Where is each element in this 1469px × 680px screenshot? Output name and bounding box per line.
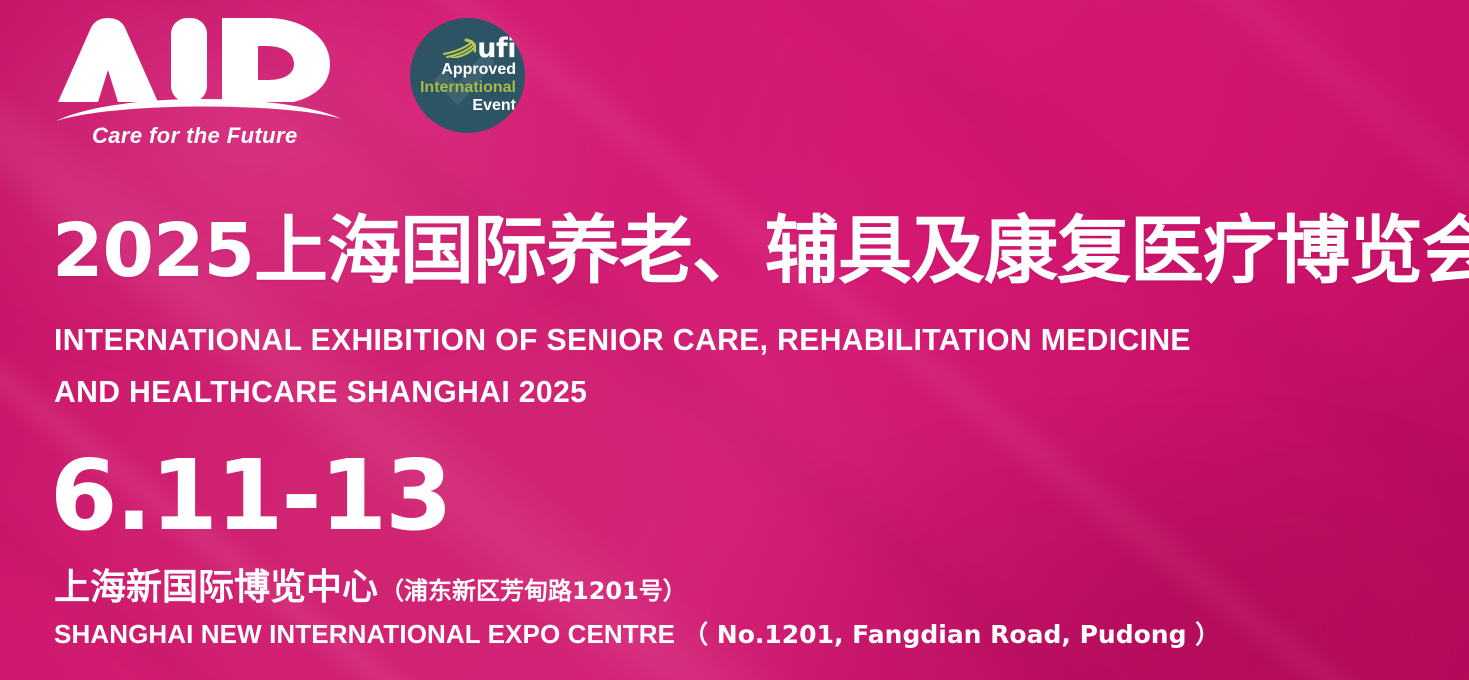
event-title-chinese: 2025上海国际养老、辅具及康复医疗博览会 — [52, 206, 1469, 296]
event-banner: Care for the Future ufi Approved Interna… — [0, 0, 1469, 680]
aid-tagline: Care for the Future — [92, 123, 298, 149]
venue-english: SHANGHAI NEW INTERNATIONAL EXPO CENTRE （… — [54, 617, 1220, 652]
ufi-line-approved: Approved — [441, 61, 516, 79]
venue-chinese: 上海新国际博览中心 （浦东新区芳甸路1201号） — [54, 566, 687, 613]
ufi-swoosh-icon — [442, 38, 476, 58]
venue-chinese-address: （浦东新区芳甸路1201号） — [380, 569, 687, 613]
ufi-line-international: International — [420, 79, 516, 97]
venue-chinese-name: 上海新国际博览中心 — [54, 566, 378, 610]
event-date: 6.11-13 — [50, 444, 451, 548]
venue-english-address: （ No.1201, Fangdian Road, Pudong ） — [683, 618, 1220, 652]
aid-logo[interactable]: Care for the Future — [54, 18, 344, 140]
ufi-mark-text: ufi — [477, 36, 516, 62]
event-title-english-line-1: INTERNATIONAL EXHIBITION OF SENIOR CARE,… — [54, 314, 1393, 366]
aid-swoosh-arc-icon — [54, 88, 344, 122]
ufi-approved-event-badge[interactable]: ufi Approved International Event — [410, 18, 525, 133]
venue-english-name: SHANGHAI NEW INTERNATIONAL EXPO CENTRE — [54, 617, 675, 651]
event-title-english: INTERNATIONAL EXHIBITION OF SENIOR CARE,… — [54, 314, 1434, 418]
event-title-english-line-2: AND HEALTHCARE SHANGHAI 2025 — [54, 366, 1393, 418]
ufi-line-event: Event — [472, 97, 516, 115]
